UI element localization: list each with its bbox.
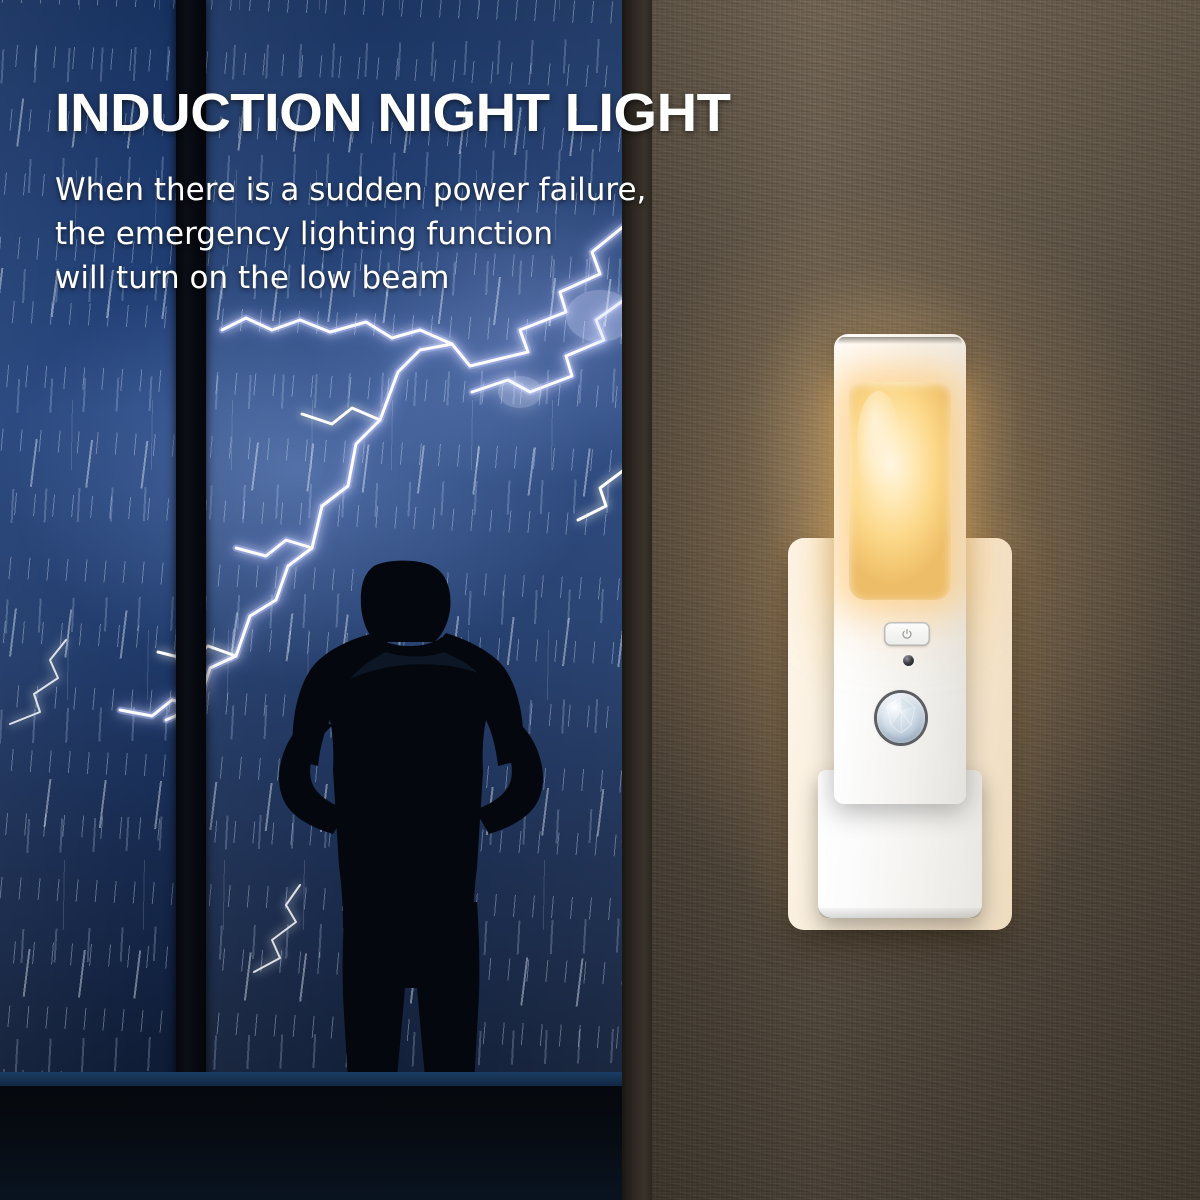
description-line-2: the emergency lighting function — [55, 212, 675, 256]
wall-light-glow — [650, 0, 1200, 1200]
stucco-wall — [650, 0, 1200, 1200]
description-line-3: will turn on the low beam — [55, 256, 675, 300]
interior-floor — [0, 1086, 624, 1200]
marketing-copy: INDUCTION NIGHT LIGHT When there is a su… — [55, 86, 675, 300]
man-silhouette — [246, 560, 576, 1100]
description-line-1: When there is a sudden power failure, — [55, 168, 675, 212]
description-text: When there is a sudden power failure, th… — [55, 168, 675, 300]
product-marketing-image: INDUCTION NIGHT LIGHT When there is a su… — [0, 0, 1200, 1200]
page-title: INDUCTION NIGHT LIGHT — [55, 86, 700, 140]
